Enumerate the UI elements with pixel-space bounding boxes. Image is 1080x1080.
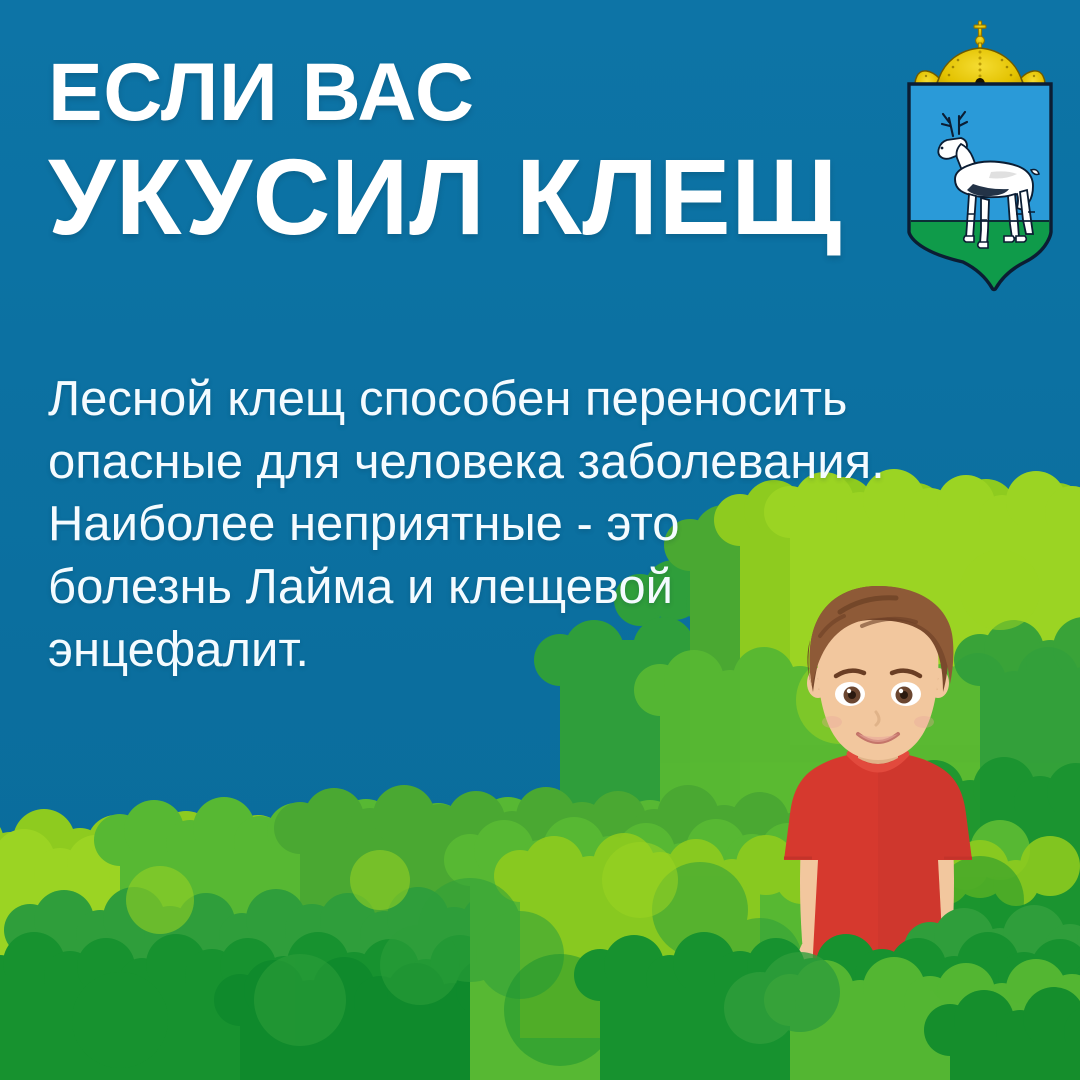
- body-line: опасные для человека заболевания.: [48, 431, 1008, 494]
- coat-of-arms-of-samara: [895, 14, 1065, 299]
- body-line: болезнь Лайма и клещевой: [48, 556, 1008, 619]
- body-line: энцефалит.: [48, 619, 1008, 682]
- headline-line-1: ЕСЛИ ВАС: [48, 52, 878, 134]
- body-line: Лесной клещ способен переносить: [48, 368, 1008, 431]
- heraldic-shield: [905, 80, 1055, 299]
- poster-root: ЕСЛИ ВАС УКУСИЛ КЛЕЩ Лесной клещ способе…: [0, 0, 1080, 1080]
- headline-line-2: УКУСИЛ КЛЕЩ: [48, 142, 878, 252]
- headline: ЕСЛИ ВАС УКУСИЛ КЛЕЩ: [48, 52, 878, 252]
- body-line: Наиболее неприятные - это: [48, 493, 1008, 556]
- body-paragraph: Лесной клещ способен переносить опасные …: [48, 368, 1008, 682]
